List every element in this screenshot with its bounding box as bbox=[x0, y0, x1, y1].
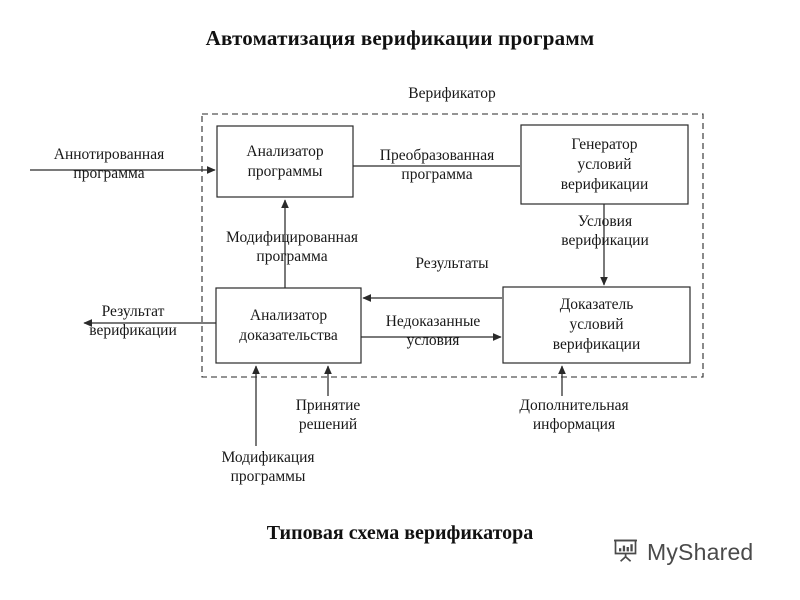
text-line: Условия bbox=[578, 213, 632, 230]
text-line: решений bbox=[299, 416, 357, 433]
edge-label-annotated-program: Аннотированная программа bbox=[14, 145, 204, 183]
text-line: программа bbox=[73, 165, 144, 182]
text-line: условий bbox=[569, 316, 623, 333]
text-line: Принятие bbox=[296, 397, 361, 414]
edge-label-decision-making: Принятие решений bbox=[268, 396, 388, 434]
text-line: верификации bbox=[561, 176, 649, 193]
slide-canvas: Автоматизация верификации программ bbox=[0, 0, 800, 600]
box-label-analyzer-proof: Анализатор доказательства bbox=[216, 288, 361, 363]
text-line: Результаты bbox=[415, 255, 488, 272]
text-line: Аннотированная bbox=[54, 146, 165, 163]
edge-label-additional-info: Дополнительная информация bbox=[490, 396, 658, 434]
text-line: Результат bbox=[102, 303, 165, 320]
edge-label-program-modification: Модификация программы bbox=[202, 448, 334, 486]
text-line: программа bbox=[256, 248, 327, 265]
text-line: программа bbox=[401, 166, 472, 183]
text-line: Анализатор bbox=[250, 307, 327, 324]
text-line: Генератор bbox=[571, 136, 637, 153]
edge-label-verification-result: Результат верификации bbox=[60, 302, 206, 340]
text-line: информация bbox=[533, 416, 615, 433]
text-line: Модифицированная bbox=[226, 229, 358, 246]
text-line: доказательства bbox=[239, 327, 338, 344]
myshared-label: MyShared bbox=[647, 539, 753, 566]
text-line: верификации bbox=[561, 232, 649, 249]
text-line: условий bbox=[577, 156, 631, 173]
edge-label-transformed-program: Преобразованная программа bbox=[357, 146, 517, 184]
text-line: верификации bbox=[553, 336, 641, 353]
box-label-prover: Доказатель условий верификации bbox=[503, 287, 690, 363]
text-line: Модификация bbox=[221, 449, 314, 466]
edge-label-results: Результаты bbox=[392, 254, 512, 273]
box-label-generator: Генератор условий верификации bbox=[521, 125, 688, 204]
text-line: Преобразованная bbox=[380, 147, 494, 164]
presentation-board-chart-icon bbox=[612, 536, 640, 569]
edge-label-unproven-conditions: Недоказанные условия bbox=[364, 312, 502, 350]
verifier-container-label: Верификатор bbox=[352, 84, 552, 103]
text-line: программы bbox=[248, 163, 323, 180]
text-line: Анализатор bbox=[246, 143, 323, 160]
text-line: Недоказанные bbox=[386, 313, 481, 330]
myshared-watermark: MyShared bbox=[612, 536, 753, 569]
box-label-analyzer-program: Анализатор программы bbox=[217, 126, 353, 197]
text-line: Доказатель bbox=[560, 296, 634, 313]
text-line: условия bbox=[407, 332, 460, 349]
edge-label-verification-conditions: Условия верификации bbox=[525, 212, 685, 250]
edge-label-modified-program: Модифицированная программа bbox=[202, 228, 382, 266]
text-line: Дополнительная bbox=[519, 397, 628, 414]
text-line: верификации bbox=[89, 322, 177, 339]
text-line: программы bbox=[231, 468, 306, 485]
